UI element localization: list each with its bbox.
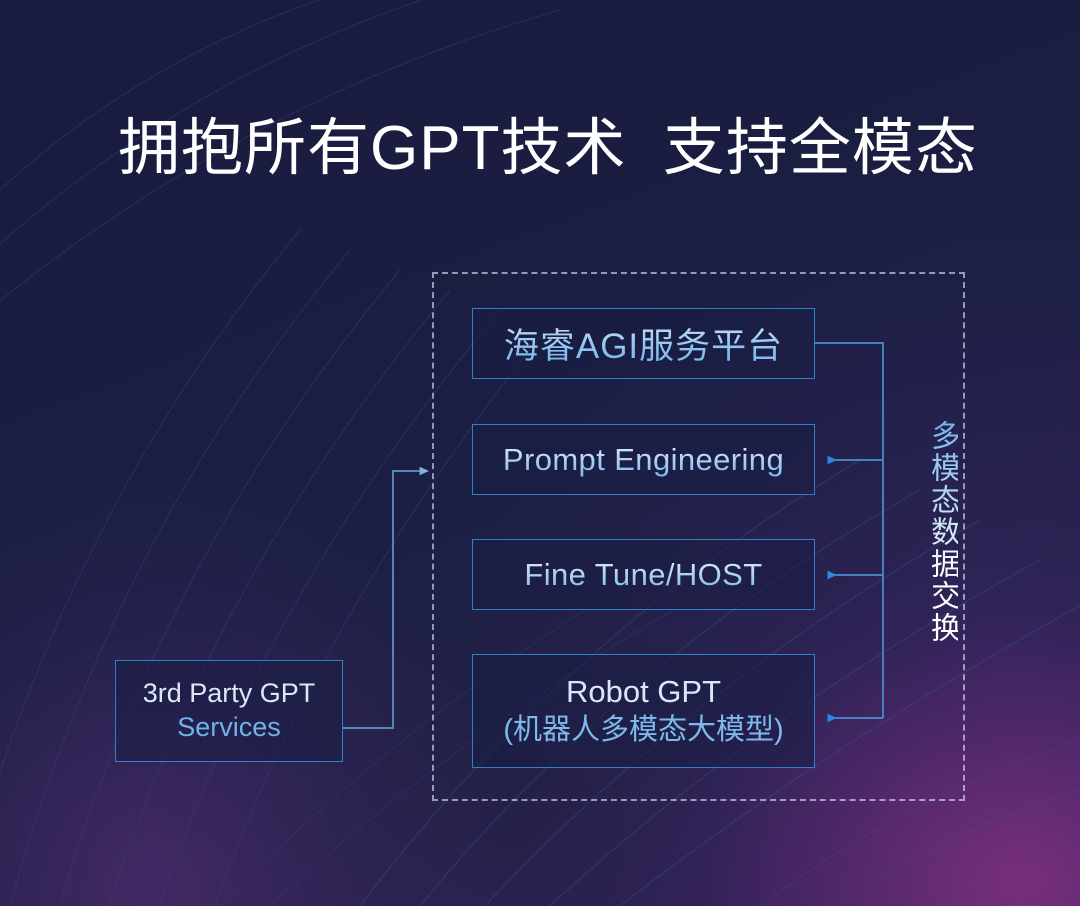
box-third-party-gpt-sublabel: Services xyxy=(177,711,281,745)
box-fine-tune-host-label: Fine Tune/HOST xyxy=(524,557,762,593)
box-third-party-gpt-label: 3rd Party GPT xyxy=(143,677,316,711)
box-fine-tune-host[interactable]: Fine Tune/HOST xyxy=(472,539,815,610)
box-robot-gpt-label: Robot GPT xyxy=(566,673,721,710)
box-prompt-engineering[interactable]: Prompt Engineering xyxy=(472,424,815,495)
page-title: 拥抱所有GPT技术 支持全模态 xyxy=(118,112,978,185)
slide-canvas: 拥抱所有GPT技术 支持全模态 海睿AGI服务平台 Prompt Engi xyxy=(0,0,1080,906)
vertical-label-multimodal-exchange: 多模态数据交换 xyxy=(912,420,958,644)
box-agi-platform[interactable]: 海睿AGI服务平台 xyxy=(472,308,815,379)
box-robot-gpt[interactable]: Robot GPT (机器人多模态大模型) xyxy=(472,654,815,768)
box-agi-platform-label: 海睿AGI服务平台 xyxy=(504,318,783,369)
box-prompt-engineering-label: Prompt Engineering xyxy=(503,442,784,478)
box-robot-gpt-sublabel: (机器人多模态大模型) xyxy=(503,712,783,748)
box-third-party-gpt[interactable]: 3rd Party GPT Services xyxy=(115,660,343,762)
third-party-connector xyxy=(343,471,420,728)
